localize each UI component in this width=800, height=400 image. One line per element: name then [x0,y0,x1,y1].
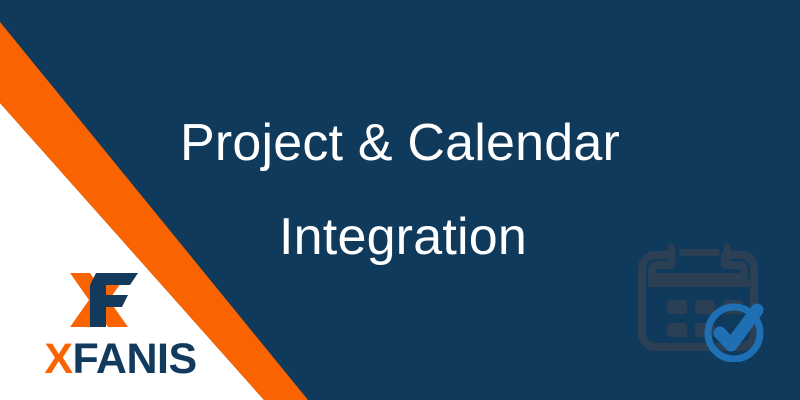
calendar-cell [667,300,687,314]
calendar-cell [667,323,687,337]
wordmark-rest: FANIS [73,335,197,383]
wordmark-x: X [44,335,72,383]
page-title: Project & Calendar Integration [0,96,800,284]
brand-lockup: XFANIS [18,265,223,390]
headline-line-1: Project & Calendar [0,96,800,190]
banner-canvas: Project & Calendar Integration XFANIS [0,0,800,400]
brand-wordmark: XFANIS [18,337,223,381]
calendar-cell [695,300,715,314]
xf-monogram-icon [66,265,146,335]
